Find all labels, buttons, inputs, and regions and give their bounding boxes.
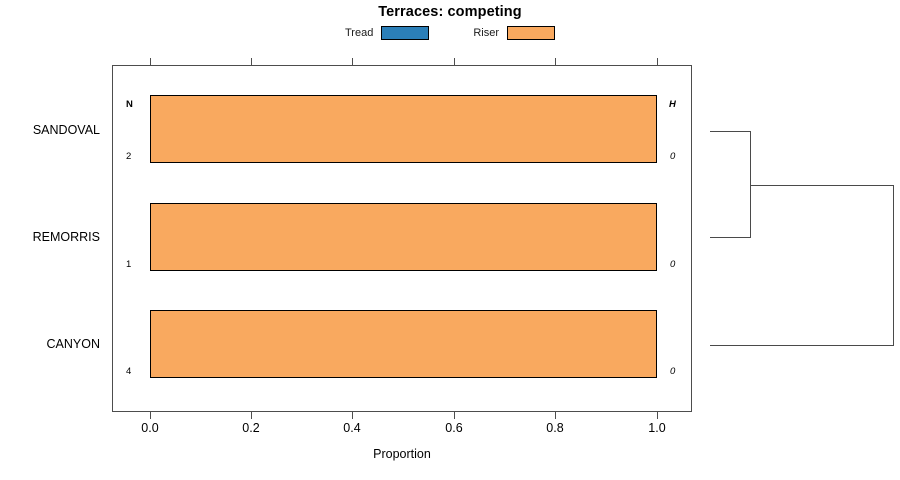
n-value-sandoval: 2	[126, 151, 131, 162]
dendro-leaf-sandoval	[710, 131, 751, 132]
legend-label-tread: Tread	[345, 27, 373, 39]
x-tick-2	[352, 412, 353, 419]
dendro-root-connector	[893, 185, 894, 346]
x-tick-3	[454, 412, 455, 419]
n-value-remorris: 1	[126, 259, 131, 270]
page-title: Terraces: competing	[0, 4, 900, 20]
dendro-merge-1-stem	[750, 185, 894, 186]
x-tick-label-0: 0.0	[120, 421, 180, 435]
x-axis-title: Proportion	[112, 447, 692, 461]
x-tick-top-5	[657, 58, 658, 65]
h-value-sandoval: 0	[670, 151, 675, 162]
row-label-sandoval: SANDOVAL	[0, 123, 100, 137]
n-value-canyon: 4	[126, 366, 131, 377]
x-tick-top-4	[555, 58, 556, 65]
x-tick-label-5: 1.0	[627, 421, 687, 435]
col-header-n: N	[126, 99, 133, 110]
x-tick-1	[251, 412, 252, 419]
legend-item-riser[interactable]: Riser	[473, 26, 555, 40]
bar-riser-canyon[interactable]	[150, 310, 657, 378]
x-tick-top-1	[251, 58, 252, 65]
x-tick-5	[657, 412, 658, 419]
x-tick-label-4: 0.8	[525, 421, 585, 435]
legend-swatch-tread-icon	[381, 26, 429, 40]
x-tick-label-2: 0.4	[322, 421, 382, 435]
h-value-canyon: 0	[670, 366, 675, 377]
row-label-canyon: CANYON	[0, 337, 100, 351]
legend-item-tread[interactable]: Tread	[345, 26, 429, 40]
x-tick-label-3: 0.6	[424, 421, 484, 435]
x-tick-top-0	[150, 58, 151, 65]
legend: Tread Riser	[0, 26, 900, 40]
dendro-leaf-remorris	[710, 237, 751, 238]
bar-riser-remorris[interactable]	[150, 203, 657, 271]
col-header-h: H	[669, 99, 676, 110]
h-value-remorris: 0	[670, 259, 675, 270]
dendro-leaf-canyon	[710, 345, 894, 346]
x-tick-top-3	[454, 58, 455, 65]
bar-riser-sandoval[interactable]	[150, 95, 657, 163]
x-tick-0	[150, 412, 151, 419]
chart-canvas: Terraces: competing Tread Riser 0.0 0.2 …	[0, 0, 900, 480]
row-label-remorris: REMORRIS	[0, 230, 100, 244]
legend-label-riser: Riser	[473, 27, 499, 39]
x-tick-4	[555, 412, 556, 419]
x-tick-top-2	[352, 58, 353, 65]
x-tick-label-1: 0.2	[221, 421, 281, 435]
legend-swatch-riser-icon	[507, 26, 555, 40]
